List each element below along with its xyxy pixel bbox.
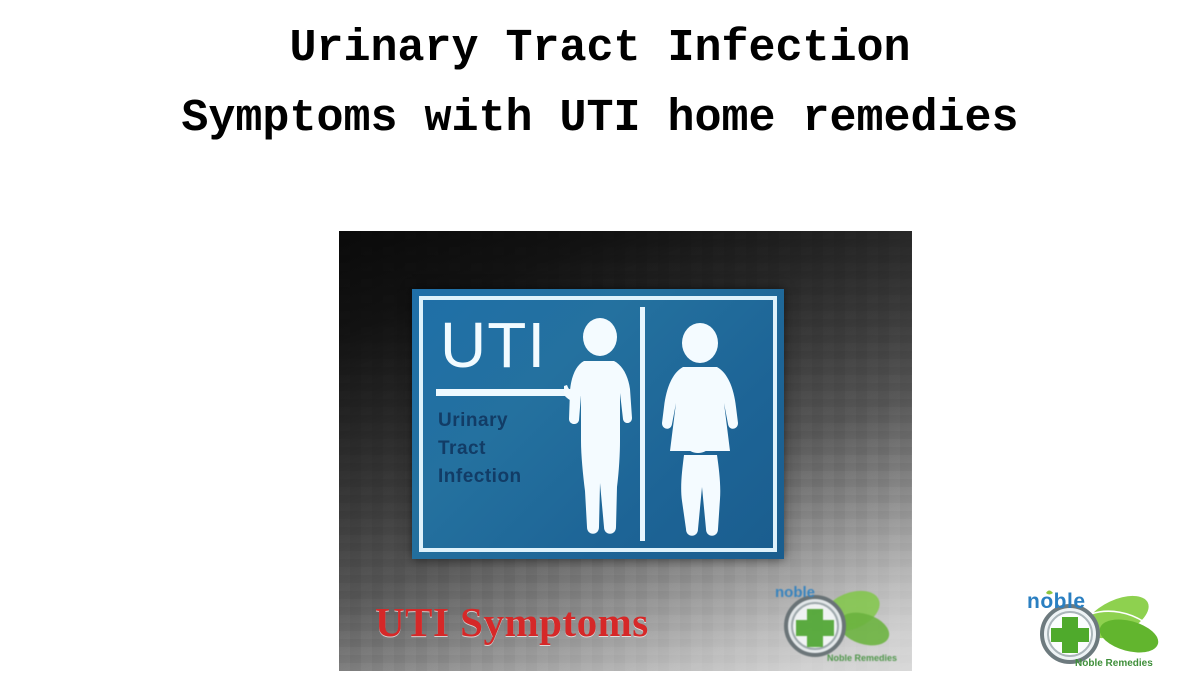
uti-restroom-sign: UTI Urinary Tract Infection — [412, 289, 784, 559]
sign-expansion-text: Urinary Tract Infection — [438, 407, 522, 491]
sign-expansion-line-2: Tract — [438, 435, 522, 463]
sign-divider-bar — [640, 307, 645, 541]
logo-tagline: Noble Remedies — [1075, 658, 1153, 669]
sign-expansion-line-3: Infection — [438, 463, 522, 491]
noble-remedies-watermark-logo: noble Noble Remedies — [767, 579, 897, 667]
male-restroom-figure-icon — [564, 315, 638, 541]
uti-illustration-image: UTI Urinary Tract Infection — [339, 231, 912, 671]
page-title: Urinary Tract Infection Symptoms with UT… — [0, 14, 1200, 154]
page-title-line-2: Symptoms with UTI home remedies — [0, 84, 1200, 154]
uti-symptoms-caption: UTI Symptoms — [375, 599, 649, 645]
sign-acronym-text: UTI — [440, 313, 546, 377]
female-restroom-figure-icon — [660, 319, 740, 541]
watermark-wordmark: noble — [775, 584, 815, 601]
page-title-line-1: Urinary Tract Infection — [0, 14, 1200, 84]
sign-expansion-line-1: Urinary — [438, 407, 522, 435]
logo-wordmark: noble — [1027, 590, 1086, 613]
watermark-tagline: Noble Remedies — [827, 653, 897, 663]
noble-remedies-logo[interactable]: noble Noble Remedies — [1013, 586, 1165, 674]
sign-acronym-underline — [436, 389, 584, 396]
